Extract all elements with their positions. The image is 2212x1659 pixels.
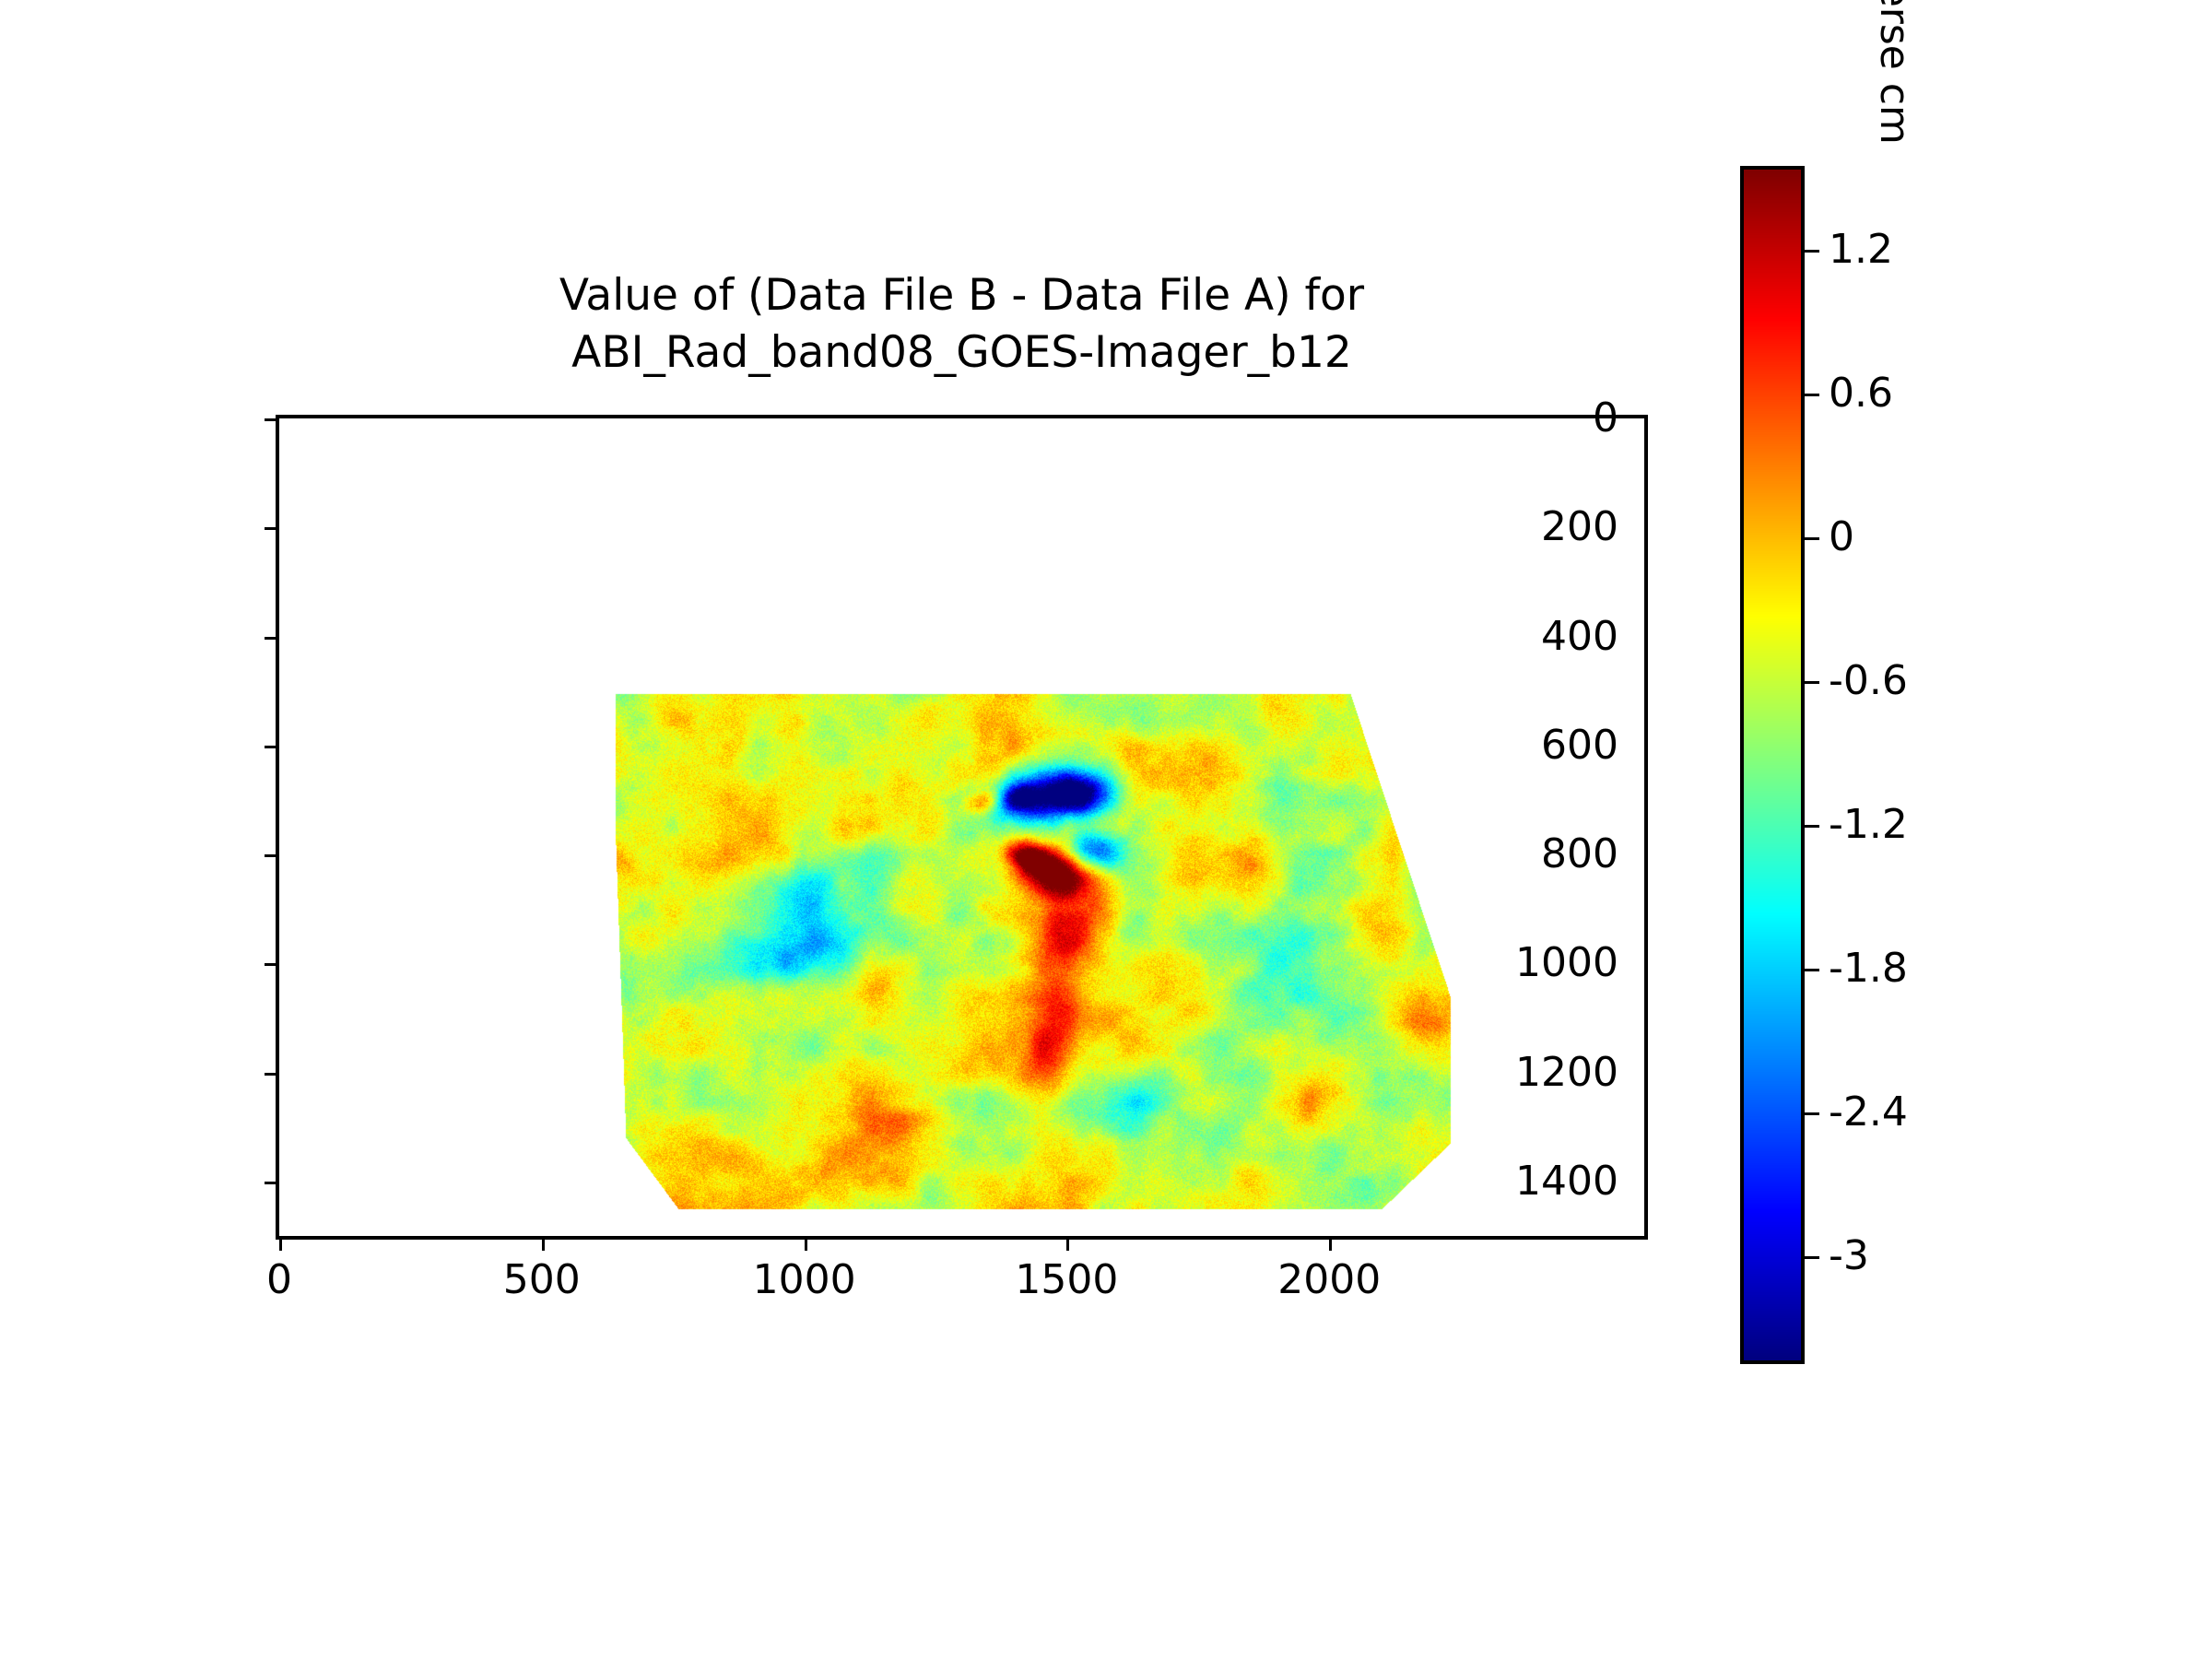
main-axes: 0200400600800100012001400 05001000150020… — [276, 415, 1648, 1240]
x-tick-mark — [279, 1236, 282, 1251]
x-tick-label: 500 — [503, 1260, 581, 1300]
colorbar-tick-label: 0.6 — [1829, 373, 1893, 414]
y-tick-mark — [265, 963, 279, 966]
colorbar-tick-mark — [1805, 825, 1819, 828]
y-tick-mark — [265, 418, 279, 421]
plot-title-line-1: Value of (Data File B - Data File A) for — [276, 267, 1648, 324]
x-tick-label: 1500 — [1015, 1260, 1118, 1300]
colorbar-tick-label: -0.6 — [1829, 661, 1908, 701]
x-tick-label: 2000 — [1277, 1260, 1381, 1300]
colorbar-axis-label-text: milliWatts per meter squared per steradi… — [1866, 0, 1922, 157]
y-tick-mark — [265, 854, 279, 857]
y-tick-mark — [265, 637, 279, 640]
colorbar-tick-mark — [1805, 250, 1819, 253]
plot-title-line-2: ABI_Rad_band08_GOES-Imager_b12 — [276, 324, 1648, 382]
colorbar-tick-label: 1.2 — [1829, 229, 1893, 270]
colorbar-tick-label: -2.4 — [1829, 1092, 1908, 1133]
figure-canvas: Value of (Data File B - Data File A) for… — [0, 0, 2212, 1659]
colorbar-tick-label: -1.2 — [1829, 805, 1908, 845]
x-tick-mark — [1329, 1236, 1332, 1251]
y-tick-mark — [265, 527, 279, 530]
x-tick-label: 1000 — [753, 1260, 856, 1300]
colorbar-tick-mark — [1805, 681, 1819, 684]
x-tick-mark — [542, 1236, 545, 1251]
x-tick-label: 0 — [266, 1260, 292, 1300]
colorbar-tick-label: -1.8 — [1829, 948, 1908, 989]
x-axis-ticks: 0500100015002000 — [279, 418, 1644, 1236]
colorbar-tick-mark — [1805, 1256, 1819, 1259]
colorbar-tick-mark — [1805, 394, 1819, 396]
colorbar-tick-label: -3 — [1829, 1236, 1869, 1277]
colorbar-gradient — [1744, 170, 1801, 1360]
colorbar: 1.20.60-0.6-1.2-1.8-2.4-3 — [1740, 166, 1805, 1364]
plot-title: Value of (Data File B - Data File A) for… — [276, 267, 1648, 382]
colorbar-tick-mark — [1805, 969, 1819, 971]
x-tick-mark — [1066, 1236, 1069, 1251]
colorbar-axis-label: milliWatts per meter squared per steradi… — [1922, 0, 1977, 157]
colorbar-bar — [1740, 166, 1805, 1364]
y-tick-mark — [265, 1073, 279, 1076]
colorbar-tick-mark — [1805, 537, 1819, 540]
x-tick-mark — [805, 1236, 807, 1251]
colorbar-tick-mark — [1805, 1112, 1819, 1115]
colorbar-tick-label: 0 — [1829, 517, 1854, 558]
y-tick-mark — [265, 1182, 279, 1184]
y-tick-mark — [265, 746, 279, 748]
